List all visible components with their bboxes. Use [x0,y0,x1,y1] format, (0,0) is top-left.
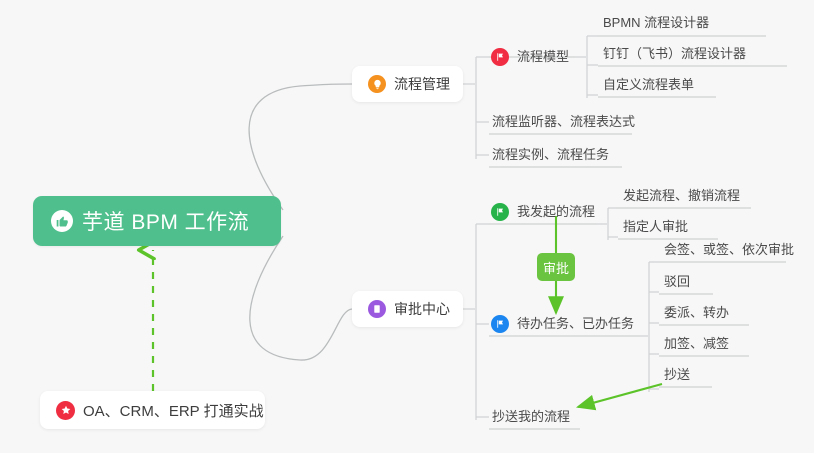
label-assignee-approval: 指定人审批 [623,216,688,238]
root-label: 芋道 BPM 工作流 [82,206,249,236]
label-bpmn-designer: BPMN 流程设计器 [603,12,709,34]
label-cc-to-me: 抄送我的流程 [492,406,570,428]
connector-root-to-approval-center [250,236,352,360]
label-process-instance: 流程实例、流程任务 [492,144,609,166]
integration-note-label: OA、CRM、ERP 打通实战 [83,400,264,421]
connector-root-to-process-management [249,84,352,210]
flag-icon [491,48,509,66]
node-custom-process-form[interactable]: 自定义流程表单 [603,74,694,96]
thumbs-up-icon [51,210,73,232]
label-custom-process-form: 自定义流程表单 [603,74,694,96]
approval-annotation-tag[interactable]: 审批 [537,253,575,281]
node-todo-done-tasks[interactable]: 待办任务、已办任务 [491,313,634,335]
label-start-cancel-process: 发起流程、撤销流程 [623,185,740,207]
node-cc-to-me[interactable]: 抄送我的流程 [492,406,570,428]
node-add-remove-sign[interactable]: 加签、减签 [664,333,729,355]
approval-annotation-label: 审批 [543,258,569,277]
label-process-listener: 流程监听器、流程表达式 [492,111,635,133]
flag-icon [491,203,509,221]
branch-node-approval-center[interactable]: 审批中心 [352,291,463,327]
integration-note-node[interactable]: OA、CRM、ERP 打通实战 [40,391,265,429]
root-node[interactable]: 芋道 BPM 工作流 [33,196,281,246]
branch-label-approval-center: 审批中心 [394,299,450,319]
clipboard-icon [368,300,386,318]
mindmap-canvas: 待办任务 --> 抄送我的流程 --> root --> 芋道 BPM 工作流 … [0,0,814,453]
node-delegate-transfer[interactable]: 委派、转办 [664,302,729,324]
node-process-model[interactable]: 流程模型 [491,46,569,68]
label-dingtalk-feishu-designer: 钉钉（飞书）流程设计器 [603,43,746,65]
flag-icon [491,315,509,333]
label-my-initiated-process: 我发起的流程 [517,201,595,223]
node-cc[interactable]: 抄送 [664,364,690,386]
label-reject: 驳回 [664,271,690,293]
node-my-initiated-process[interactable]: 我发起的流程 [491,201,595,223]
node-dingtalk-feishu-designer[interactable]: 钉钉（飞书）流程设计器 [603,43,746,65]
node-assignee-approval[interactable]: 指定人审批 [623,216,688,238]
label-countersign: 会签、或签、依次审批 [664,239,794,261]
label-add-remove-sign: 加签、减签 [664,333,729,355]
node-process-listener[interactable]: 流程监听器、流程表达式 [492,111,635,133]
bracket-todo-done [638,262,786,392]
node-start-cancel-process[interactable]: 发起流程、撤销流程 [623,185,740,207]
node-countersign[interactable]: 会签、或签、依次审批 [664,239,794,261]
label-delegate-transfer: 委派、转办 [664,302,729,324]
branch-node-process-management[interactable]: 流程管理 [352,66,463,102]
lightbulb-icon [368,75,386,93]
label-process-model: 流程模型 [517,46,569,68]
label-todo-done-tasks: 待办任务、已办任务 [517,313,634,335]
annotation-cc-arrow [578,384,662,407]
node-reject[interactable]: 驳回 [664,271,690,293]
node-process-instance[interactable]: 流程实例、流程任务 [492,144,609,166]
star-icon [56,401,75,420]
branch-label-process-management: 流程管理 [394,74,450,94]
node-bpmn-designer[interactable]: BPMN 流程设计器 [603,12,709,34]
label-cc: 抄送 [664,364,690,386]
